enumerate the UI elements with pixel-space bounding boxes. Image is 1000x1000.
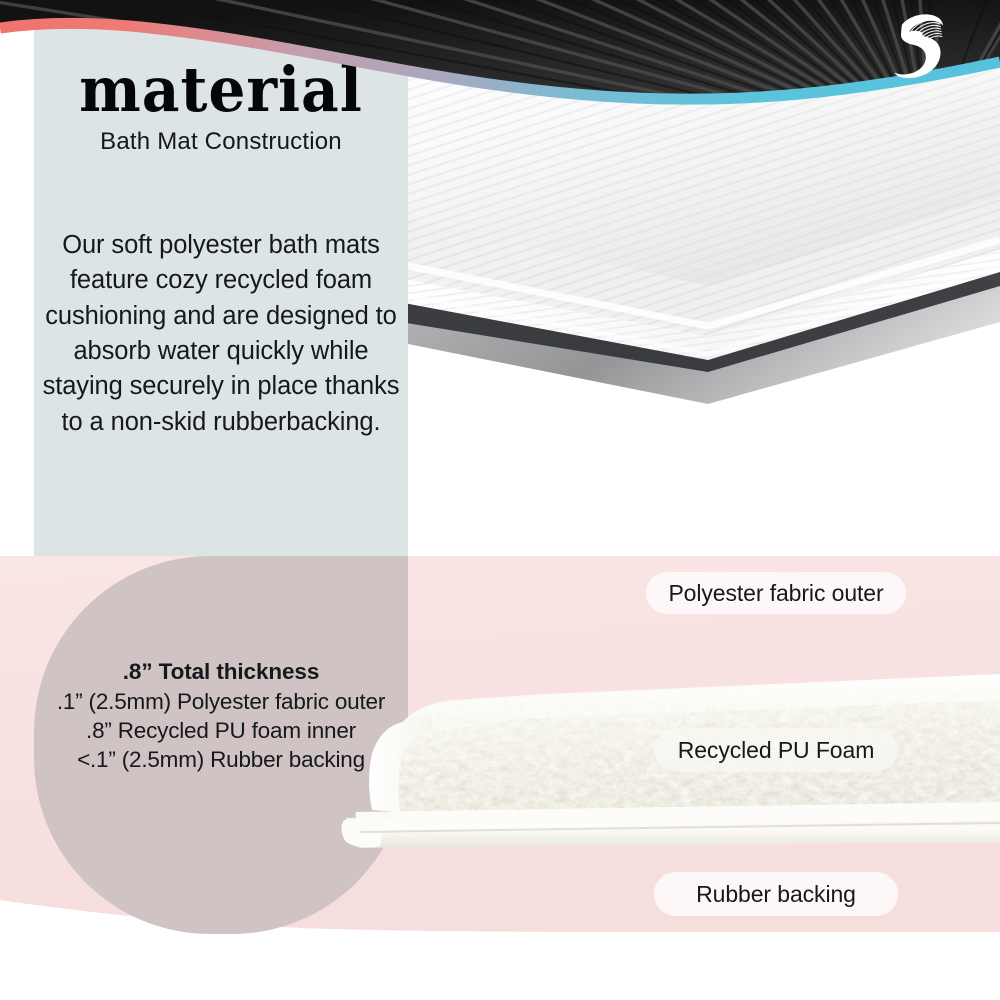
- callout-recycled-pu-foam: Recycled PU Foam: [654, 728, 898, 772]
- infographic-page: material Bath Mat Construction Our soft …: [0, 0, 1000, 1000]
- intro-paragraph: Our soft polyester bath mats feature coz…: [40, 228, 402, 440]
- spec-total-thickness: .8” Total thickness: [38, 658, 404, 687]
- callout-rubber-backing: Rubber backing: [654, 872, 898, 916]
- spec-line-outer: .1” (2.5mm) Polyester fabric outer: [38, 687, 404, 716]
- swoosh-s-monogram-icon: [880, 6, 952, 88]
- heading-block: material Bath Mat Construction: [34, 60, 408, 156]
- spec-block: .8” Total thickness .1” (2.5mm) Polyeste…: [38, 658, 404, 775]
- page-title: material: [45, 60, 397, 120]
- spec-line-foam: .8” Recycled PU foam inner: [38, 716, 404, 745]
- callout-polyester-fabric-outer: Polyester fabric outer: [646, 572, 906, 614]
- spec-line-rubber: <.1” (2.5mm) Rubber backing: [38, 745, 404, 774]
- page-subtitle: Bath Mat Construction: [34, 128, 408, 156]
